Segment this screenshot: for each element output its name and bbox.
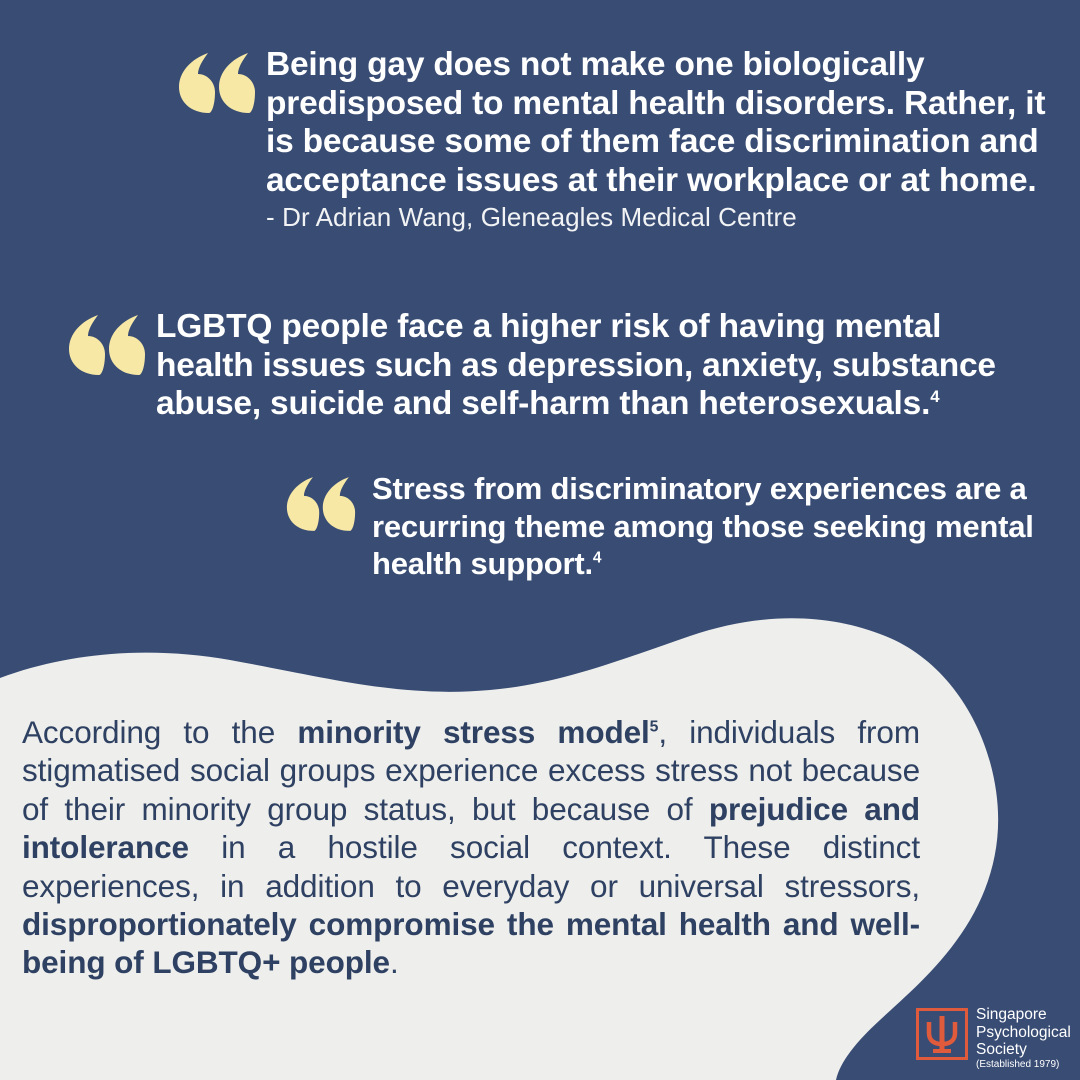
quote-block-1: Being gay does not make one biologically… — [178, 46, 1058, 234]
quote-block-3: Stress from discriminatory experiences a… — [286, 470, 1066, 583]
logo-line-2: Psychological — [976, 1024, 1071, 1041]
spsl-logo: Singapore Psychological Society (Establi… — [916, 1006, 1071, 1071]
reference-marker: 4 — [930, 387, 939, 406]
body-text: According to the — [22, 714, 297, 750]
logo-line-1: Singapore — [976, 1006, 1047, 1023]
quote-text-3: Stress from discriminatory experiences a… — [372, 470, 1066, 583]
quote-body-1: Being gay does not make one biologically… — [266, 46, 1058, 234]
quote-body-3: Stress from discriminatory experiences a… — [372, 470, 1066, 583]
quote-block-2: LGBTQ people face a higher risk of havin… — [68, 308, 1018, 424]
logo-established: (Established 1979) — [976, 1059, 1071, 1071]
open-quote-icon — [178, 52, 256, 114]
body-emphasis: disproportionately compromise the mental… — [22, 906, 920, 980]
logo-text: Singapore Psychological Society (Establi… — [976, 1006, 1071, 1071]
body-paragraph: According to the minority stress model5,… — [22, 713, 920, 982]
logo-line-3: Society — [976, 1041, 1027, 1058]
quote-body-2: LGBTQ people face a higher risk of havin… — [156, 308, 1018, 424]
open-quote-icon — [286, 476, 356, 532]
quote-attribution-1: - Dr Adrian Wang, Gleneagles Medical Cen… — [266, 201, 1058, 234]
quote-text-2: LGBTQ people face a higher risk of havin… — [156, 308, 1018, 424]
psi-symbol-icon — [916, 1008, 968, 1060]
open-quote-icon — [68, 314, 146, 376]
quote-text-1: Being gay does not make one biologically… — [266, 46, 1058, 200]
body-emphasis: minority stress model — [297, 714, 649, 750]
reference-marker: 4 — [593, 550, 601, 567]
infographic-canvas: Being gay does not make one biologically… — [0, 0, 1080, 1080]
body-text: . — [390, 944, 399, 980]
